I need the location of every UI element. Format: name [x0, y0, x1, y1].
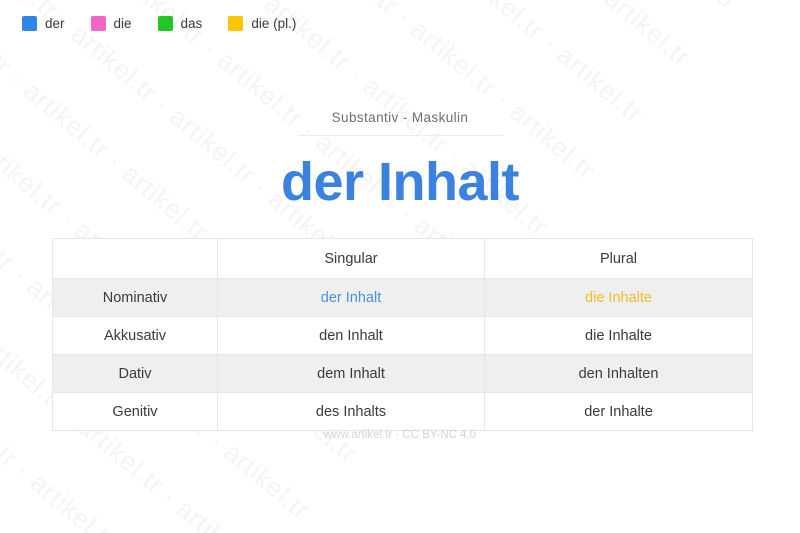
legend-item-der: der	[22, 16, 65, 31]
cell-case: Akkusativ	[53, 317, 218, 355]
word-type-subtitle: Substantiv - Maskulin	[0, 110, 800, 125]
legend-item-label: der	[45, 16, 65, 31]
article-color-legend: derdiedasdie (pl.)	[22, 16, 296, 31]
cell-singular: des Inhalts	[218, 393, 485, 431]
color-swatch-icon	[91, 16, 106, 31]
legend-item-label: die	[114, 16, 132, 31]
page-title: der Inhalt	[0, 154, 800, 211]
table-col-header-plural: Plural	[485, 239, 753, 279]
header-block: Substantiv - Maskulin der Inhalt	[0, 110, 800, 211]
table-body: Nominativder Inhaltdie InhalteAkkusativd…	[53, 279, 753, 431]
legend-item-label: die (pl.)	[251, 16, 296, 31]
table-header-row: SingularPlural	[53, 239, 753, 279]
header-divider	[298, 135, 503, 136]
color-swatch-icon	[22, 16, 37, 31]
table-col-header-case	[53, 239, 218, 279]
cell-case: Dativ	[53, 355, 218, 393]
color-swatch-icon	[228, 16, 243, 31]
table-row: Dativdem Inhaltden Inhalten	[53, 355, 753, 393]
declension-table: SingularPlural Nominativder Inhaltdie In…	[52, 238, 753, 431]
table-row: Akkusativden Inhaltdie Inhalte	[53, 317, 753, 355]
cell-plural: die Inhalte	[485, 317, 753, 355]
cell-case: Nominativ	[53, 279, 218, 317]
cell-plural: den Inhalten	[485, 355, 753, 393]
cell-plural: die Inhalte	[485, 279, 753, 317]
cell-plural: der Inhalte	[485, 393, 753, 431]
legend-item-diepl: die (pl.)	[228, 16, 296, 31]
legend-item-die: die	[91, 16, 132, 31]
cell-singular: den Inhalt	[218, 317, 485, 355]
footer-attribution: www.artikel.tr · CC BY-NC 4.0	[0, 429, 800, 441]
table-row: Nominativder Inhaltdie Inhalte	[53, 279, 753, 317]
table-header: SingularPlural	[53, 239, 753, 279]
cell-singular: dem Inhalt	[218, 355, 485, 393]
legend-item-label: das	[181, 16, 203, 31]
table-col-header-singular: Singular	[218, 239, 485, 279]
declension-table-wrapper: SingularPlural Nominativder Inhaltdie In…	[52, 238, 752, 431]
legend-item-das: das	[158, 16, 203, 31]
cell-singular: der Inhalt	[218, 279, 485, 317]
table-row: Genitivdes Inhaltsder Inhalte	[53, 393, 753, 431]
poster-canvas: artikel.tr · artikel.tr · artikel.tr · a…	[0, 0, 800, 533]
color-swatch-icon	[158, 16, 173, 31]
cell-case: Genitiv	[53, 393, 218, 431]
